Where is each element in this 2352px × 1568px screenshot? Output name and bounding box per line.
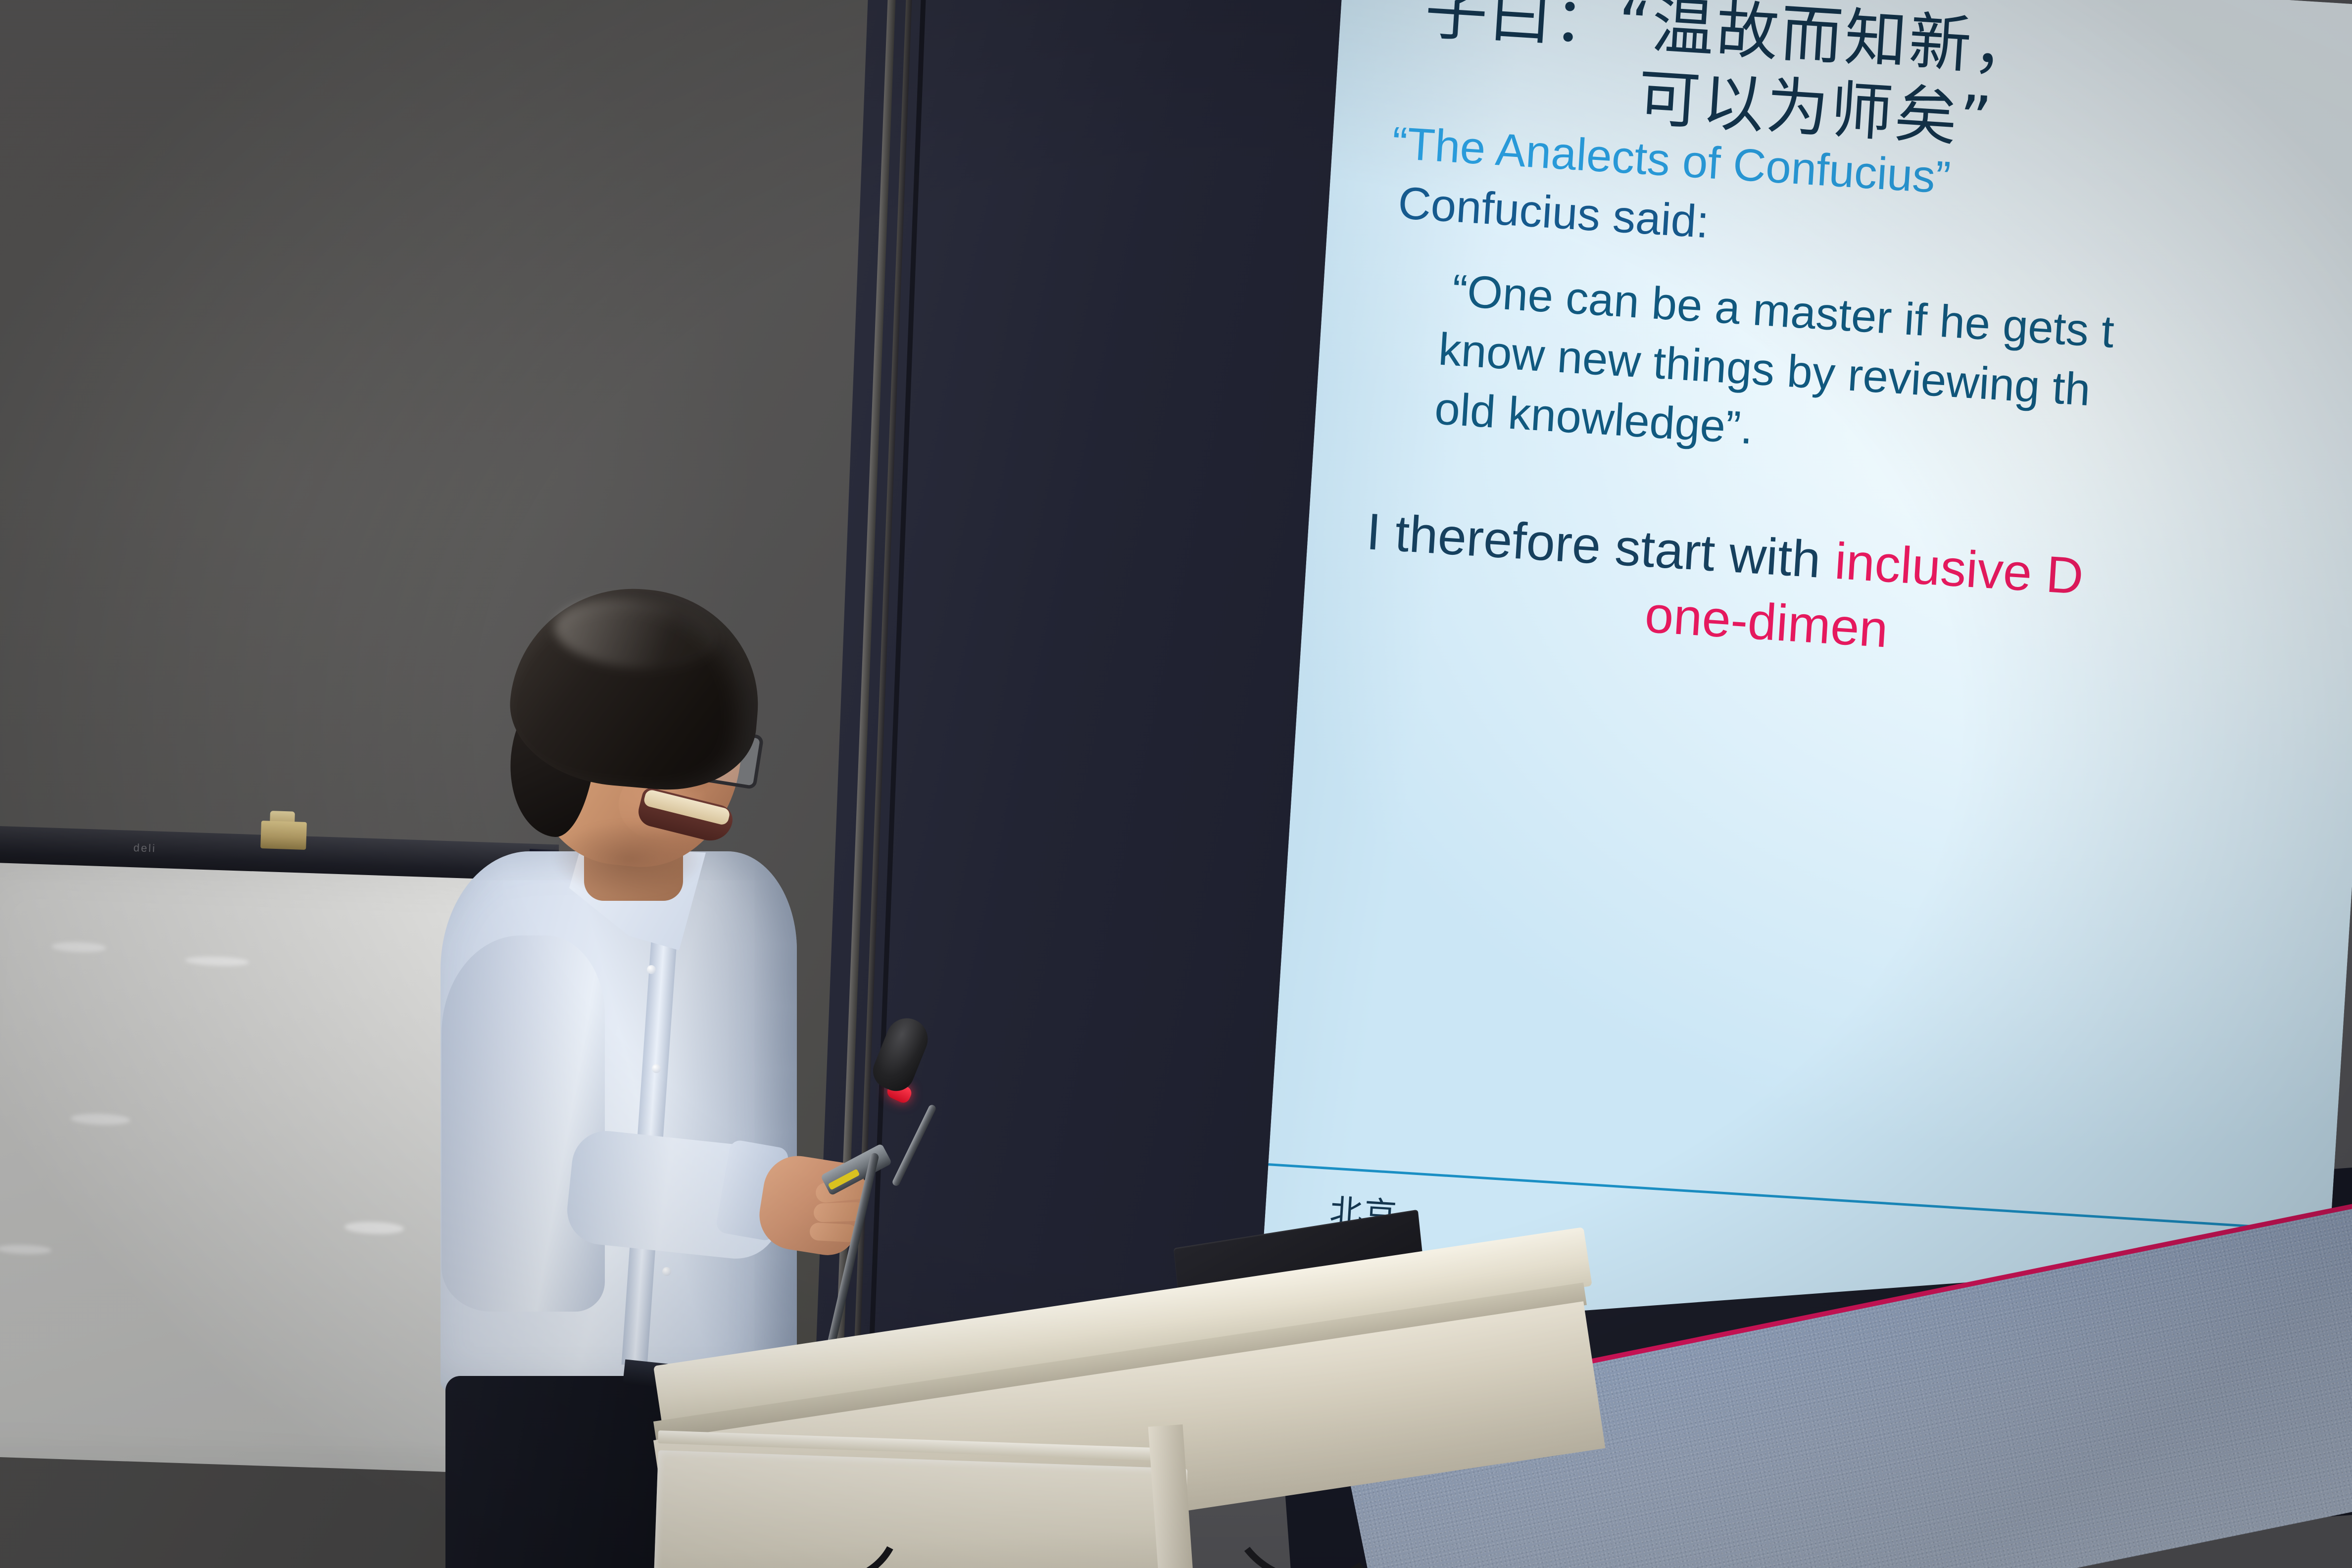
lecture-photo-scene: 《论语》 子曰：“温故而知新， 可以为师矣” “The Analects of …	[0, 0, 2352, 1568]
presenter-left-arm	[441, 935, 605, 1312]
closing-highlight: inclusive D	[1833, 533, 2085, 605]
whiteboard-smudge	[185, 956, 249, 967]
closing-prefix: I therefore start with	[1365, 503, 1836, 589]
whiteboard-smudge	[51, 941, 106, 953]
whiteboard-smudge	[344, 1221, 404, 1235]
slide-closing-line-2: one-dimen	[1643, 586, 1890, 660]
shirt-button	[662, 1267, 671, 1276]
whiteboard-smudge	[0, 1244, 51, 1255]
slide-quote-line-3: old knowledge”.	[1433, 383, 1755, 454]
podium-front-panel	[654, 1450, 1187, 1568]
whiteboard-smudge	[71, 1113, 131, 1126]
slide-footer-rule	[1268, 1163, 2330, 1232]
shirt-button	[647, 965, 656, 974]
binder-clip[interactable]	[260, 821, 307, 850]
whiteboard-brand-label: deli	[133, 841, 156, 855]
shirt-button	[652, 1064, 661, 1073]
finger	[809, 1223, 858, 1243]
projection-screen: 《论语》 子曰：“温故而知新， 可以为师矣” “The Analects of …	[1256, 0, 2352, 1430]
slide-content: 《论语》 子曰：“温故而知新， 可以为师矣” “The Analects of …	[1256, 0, 2352, 1430]
slide-attribution: Confucius said:	[1397, 177, 1711, 248]
